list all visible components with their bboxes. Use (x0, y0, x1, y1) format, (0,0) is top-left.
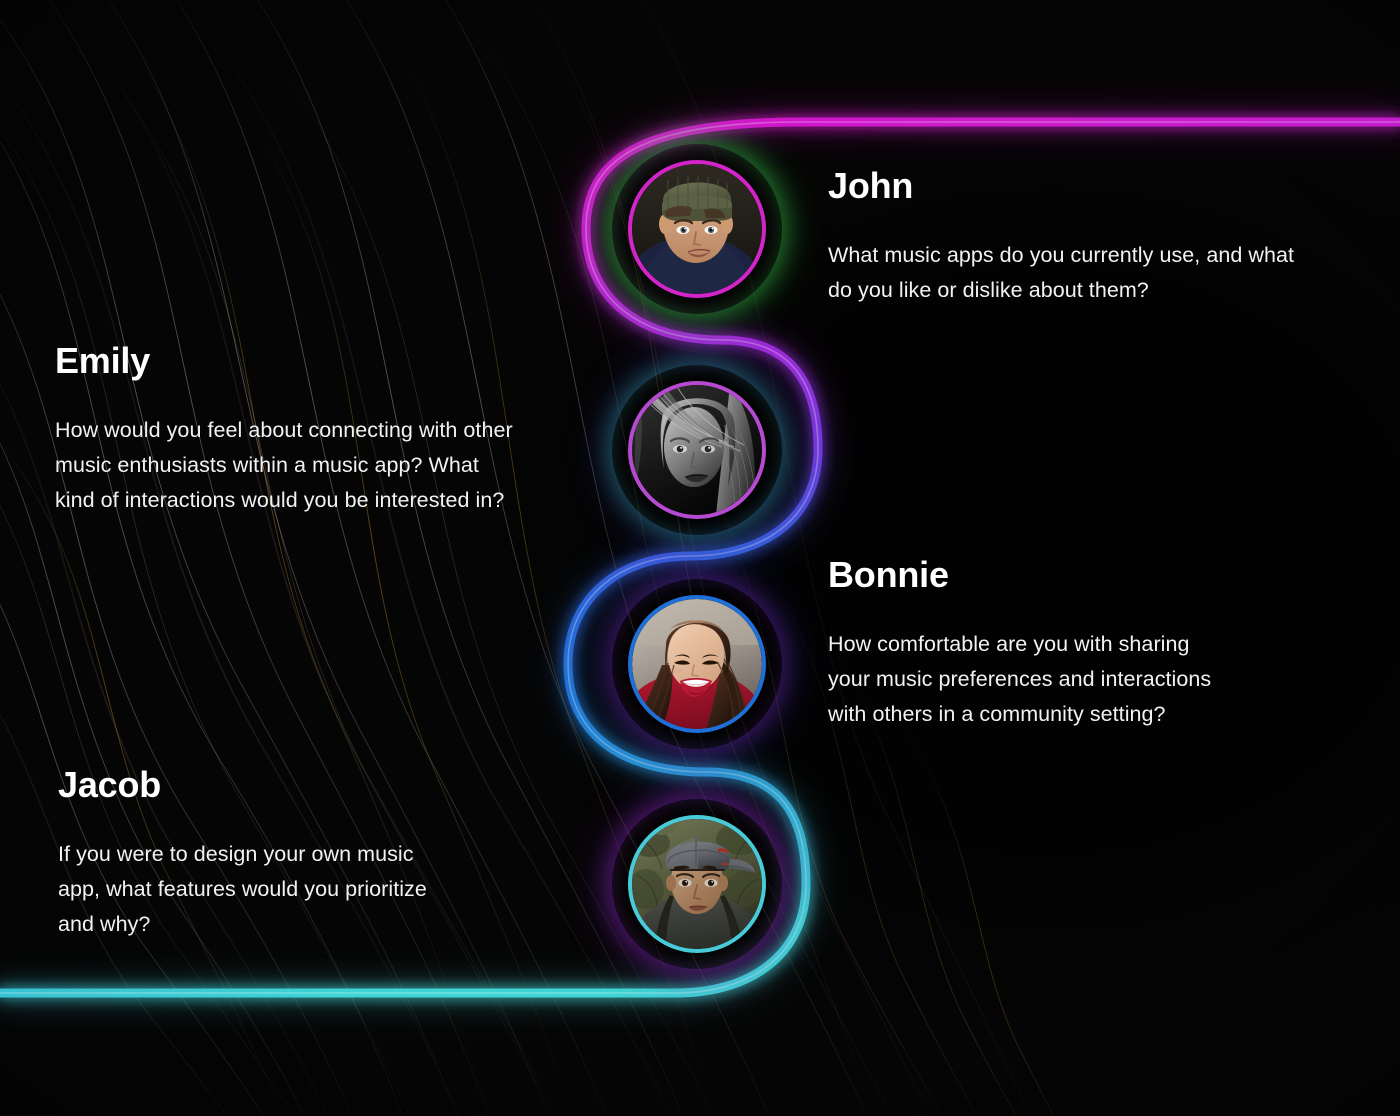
person-block-jacob: Jacob If you were to design your own mus… (58, 765, 458, 942)
avatar-photo-john (632, 164, 762, 294)
avatar-node-john[interactable] (628, 160, 766, 298)
person-question-emily: How would you feel about connecting with… (55, 413, 515, 518)
person-name-jacob: Jacob (58, 765, 458, 805)
person-question-john: What music apps do you currently use, an… (828, 238, 1298, 308)
person-question-jacob: If you were to design your own music app… (58, 837, 448, 942)
avatar-node-emily[interactable] (628, 381, 766, 519)
avatar-ring-bonnie (628, 595, 766, 733)
avatar-ring-jacob (628, 815, 766, 953)
avatar-photo-jacob (632, 819, 762, 949)
avatar-node-bonnie[interactable] (628, 595, 766, 733)
person-block-john: John What music apps do you currently us… (828, 166, 1308, 308)
interview-questions-board: John What music apps do you currently us… (0, 0, 1400, 1116)
avatar-photo-bonnie (632, 599, 762, 729)
person-block-bonnie: Bonnie How comfortable are you with shar… (828, 555, 1228, 732)
avatar-node-jacob[interactable] (628, 815, 766, 953)
person-name-emily: Emily (55, 341, 525, 381)
avatar-ring-emily (628, 381, 766, 519)
avatar-photo-emily (632, 385, 762, 515)
person-name-bonnie: Bonnie (828, 555, 1228, 595)
person-question-bonnie: How comfortable are you with sharing you… (828, 627, 1223, 732)
person-name-john: John (828, 166, 1308, 206)
avatar-ring-john (628, 160, 766, 298)
person-block-emily: Emily How would you feel about connectin… (55, 341, 525, 518)
